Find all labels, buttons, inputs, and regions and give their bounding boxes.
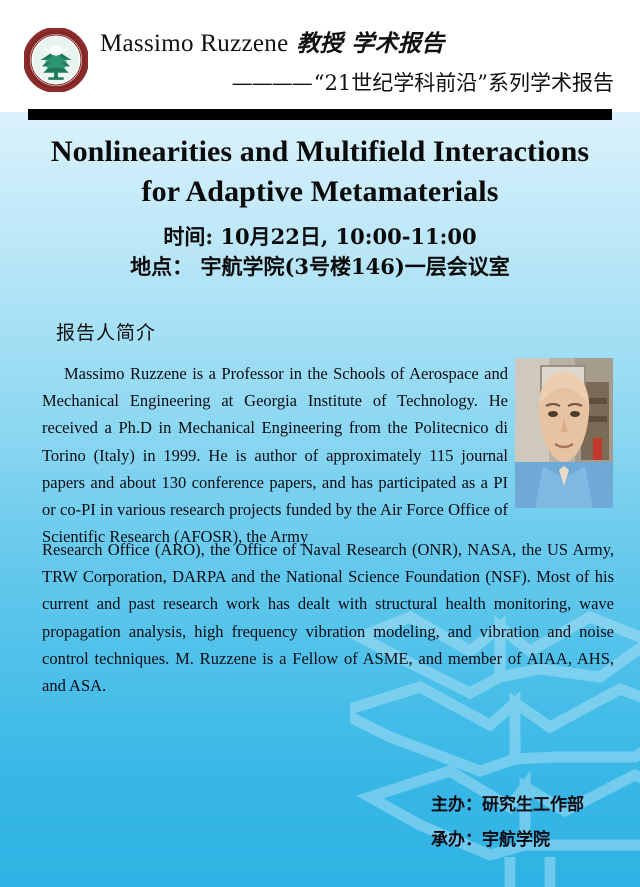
title-line-1: Nonlinearities and Multifield Interactio… xyxy=(40,132,600,172)
header-text-block: Massimo Ruzzene教授 学术报告 ————“21世纪学科前沿”系列学… xyxy=(100,30,620,97)
speaker-title-cn: 教授 学术报告 xyxy=(296,30,444,57)
event-place: 地点： 宇航学院(3号楼146)一层会议室 xyxy=(40,252,600,282)
header-title-line: Massimo Ruzzene教授 学术报告 xyxy=(100,30,620,58)
event-time: 时间: 10月22日, 10:00-11:00 xyxy=(40,222,600,252)
page-title: Nonlinearities and Multifield Interactio… xyxy=(40,132,600,211)
series-dash: ———— xyxy=(232,71,312,95)
poster-header: Massimo Ruzzene教授 学术报告 ————“21世纪学科前沿”系列学… xyxy=(0,0,640,112)
bio-paragraph-wide: Research Office (ARO), the Office of Nav… xyxy=(42,536,614,699)
speaker-photo xyxy=(515,358,613,508)
speaker-name: Massimo Ruzzene xyxy=(100,30,288,57)
bio-paragraph-narrow: Massimo Ruzzene is a Professor in the Sc… xyxy=(42,360,508,551)
header-divider-bar xyxy=(28,109,612,120)
poster-page: Massimo Ruzzene教授 学术报告 ————“21世纪学科前沿”系列学… xyxy=(0,0,640,887)
poster-footer: 主办：研究生工作部 承办：宇航学院 xyxy=(431,788,584,859)
header-series-line: ————“21世纪学科前沿”系列学术报告 xyxy=(100,67,620,97)
event-meta: 时间: 10月22日, 10:00-11:00 地点： 宇航学院(3号楼146)… xyxy=(40,222,600,283)
university-logo-icon xyxy=(24,28,88,92)
footer-host: 承办：宇航学院 xyxy=(431,823,584,859)
title-line-2: for Adaptive Metamaterials xyxy=(40,172,600,212)
series-title-cn: “21世纪学科前沿”系列学术报告 xyxy=(314,71,614,95)
bio-heading: 报告人简介 xyxy=(56,318,156,345)
footer-organizer: 主办：研究生工作部 xyxy=(431,788,584,824)
